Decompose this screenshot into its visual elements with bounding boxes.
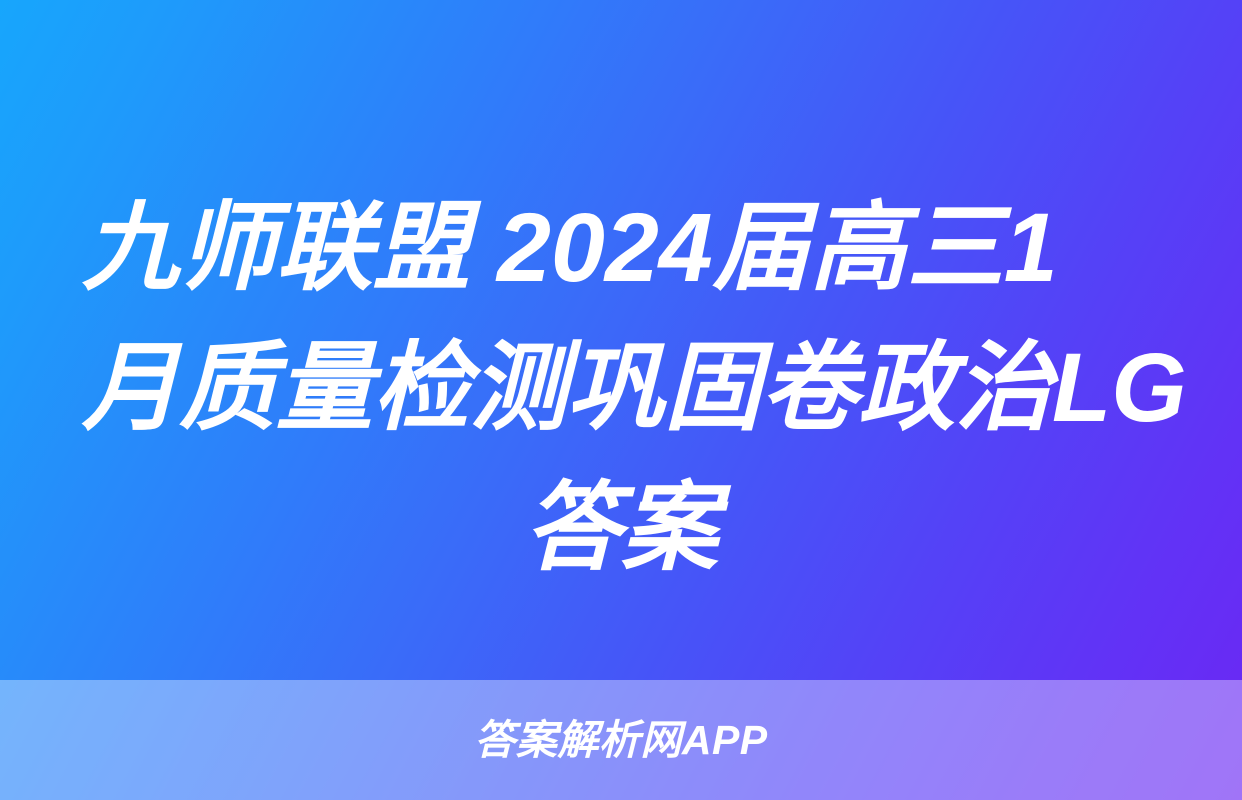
page-title: 九师联盟 2024届高三1 月质量检测巩固卷政治LG 答案 bbox=[0, 178, 1242, 598]
title-line-3: 答案 bbox=[82, 458, 1160, 598]
watermark-text: 答案解析网APP bbox=[474, 720, 767, 761]
watermark-band: 答案解析网APP bbox=[0, 680, 1242, 800]
title-line-1: 九师联盟 2024届高三1 bbox=[82, 178, 1160, 318]
poster-card: 九师联盟 2024届高三1 月质量检测巩固卷政治LG 答案 答案解析网APP bbox=[0, 0, 1242, 800]
title-line-2: 月质量检测巩固卷政治LG bbox=[82, 318, 1160, 458]
